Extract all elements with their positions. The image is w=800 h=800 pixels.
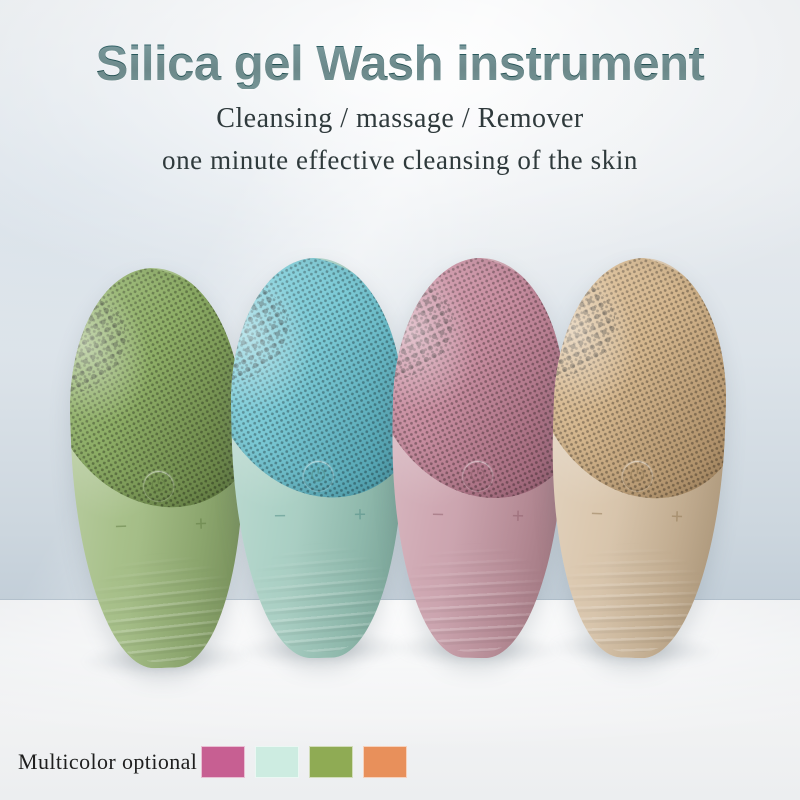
minus-icon[interactable]: − bbox=[427, 504, 449, 526]
minus-icon[interactable]: − bbox=[269, 505, 291, 527]
power-glyph: ⏻ bbox=[630, 466, 646, 486]
plus-icon[interactable]: + bbox=[190, 513, 213, 536]
multicolor-label: Multicolor optional bbox=[18, 749, 197, 775]
swatch-orange[interactable] bbox=[363, 746, 407, 778]
beige-device[interactable]: ⏻−+ bbox=[545, 255, 731, 661]
pink-device[interactable]: ⏻−+ bbox=[389, 257, 568, 660]
minus-icon[interactable]: − bbox=[586, 503, 609, 526]
swatch-mint[interactable] bbox=[255, 746, 299, 778]
headline-block: Silica gel Wash instrument Cleansing / m… bbox=[0, 0, 800, 176]
plus-icon[interactable]: + bbox=[507, 506, 529, 528]
product-poster: Silica gel Wash instrument Cleansing / m… bbox=[0, 0, 800, 800]
device-body: ⏻−+ bbox=[65, 265, 251, 671]
device-body: ⏻−+ bbox=[389, 257, 568, 660]
plus-icon[interactable]: + bbox=[349, 504, 371, 526]
swatch-list bbox=[201, 746, 407, 778]
power-glyph: ⏻ bbox=[311, 466, 326, 485]
swatch-green[interactable] bbox=[309, 746, 353, 778]
swatch-pink[interactable] bbox=[201, 746, 245, 778]
minus-icon[interactable]: − bbox=[110, 516, 133, 539]
device-body: ⏻−+ bbox=[229, 257, 408, 660]
device-body: ⏻−+ bbox=[545, 255, 731, 661]
power-glyph: ⏻ bbox=[151, 476, 167, 496]
multicolor-bar: Multicolor optional bbox=[0, 738, 800, 786]
page-title: Silica gel Wash instrument bbox=[0, 0, 800, 89]
power-glyph: ⏻ bbox=[470, 466, 485, 485]
subtitle-tagline: one minute effective cleansing of the sk… bbox=[0, 145, 800, 176]
green-device[interactable]: ⏻−+ bbox=[65, 265, 251, 671]
plus-icon[interactable]: + bbox=[666, 506, 689, 529]
teal-device[interactable]: ⏻−+ bbox=[229, 257, 408, 660]
subtitle-features: Cleansing / massage / Remover bbox=[0, 103, 800, 135]
